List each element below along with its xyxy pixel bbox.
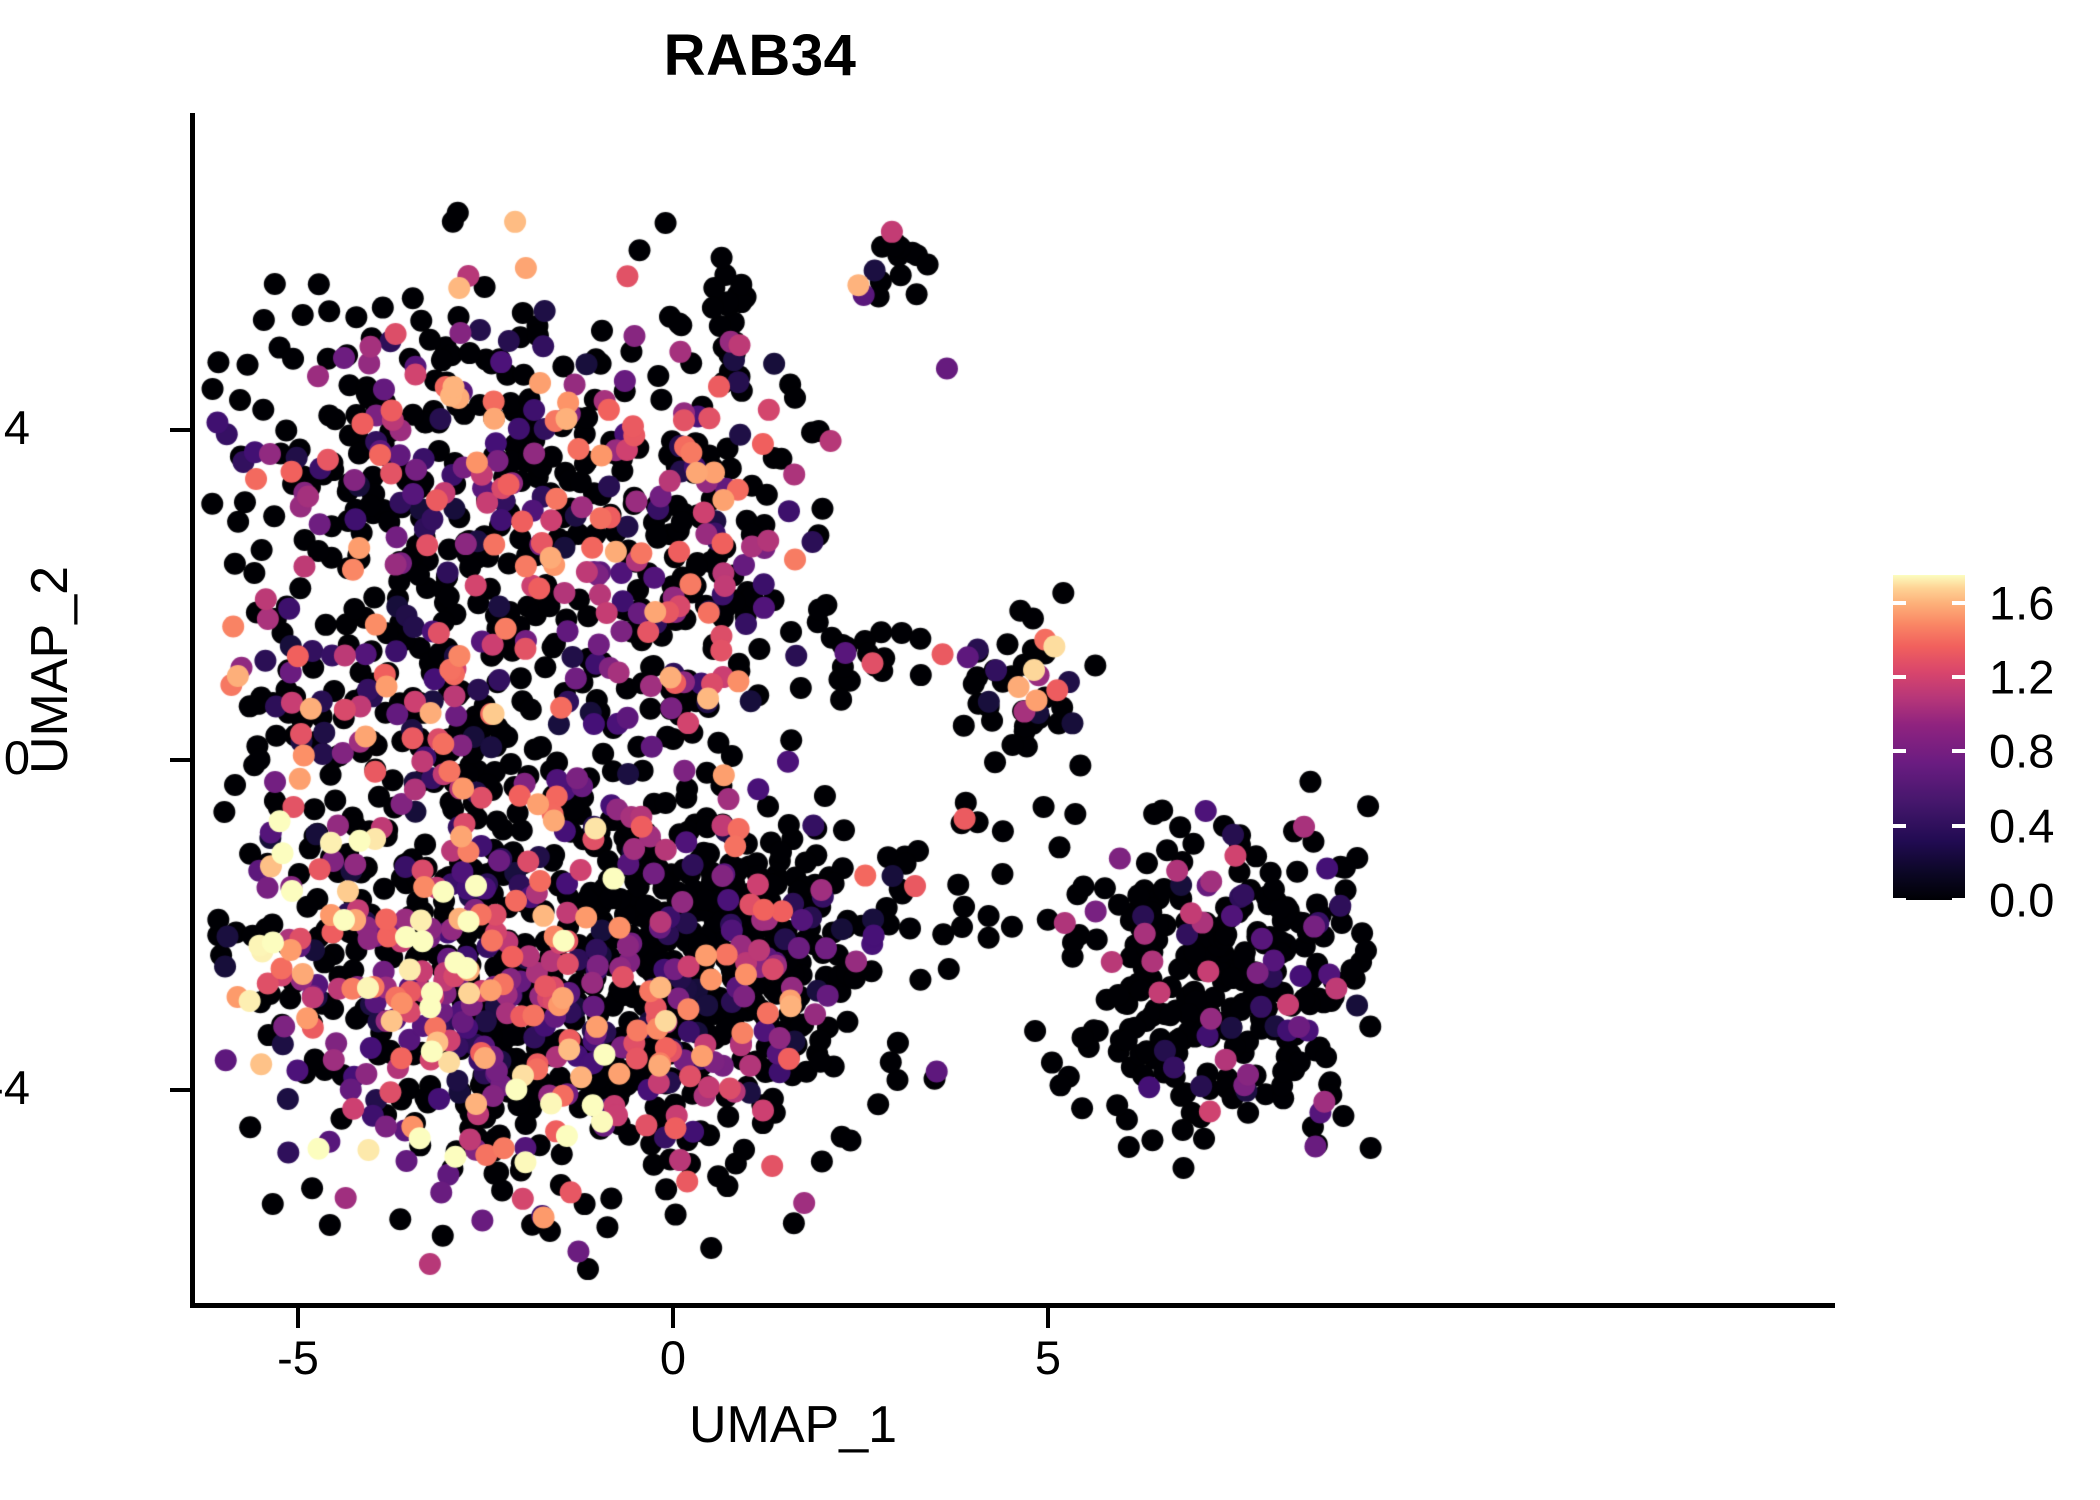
colorbar-tick-mark bbox=[1952, 601, 1965, 605]
colorbar-tick-mark bbox=[1893, 675, 1906, 679]
x-tick-label: 0 bbox=[593, 1330, 753, 1385]
plot-panel bbox=[193, 116, 1393, 1305]
x-tick-mark bbox=[671, 1307, 675, 1328]
y-tick-mark bbox=[170, 758, 191, 762]
x-tick-label: -5 bbox=[218, 1330, 378, 1385]
x-tick-label: 5 bbox=[968, 1330, 1128, 1385]
x-tick-mark bbox=[1046, 1307, 1050, 1328]
colorbar-tick-label: 0.4 bbox=[1989, 798, 2054, 853]
colorbar-tick-mark bbox=[1952, 749, 1965, 753]
y-tick-label: -4 bbox=[0, 1060, 30, 1115]
colorbar-tick-label: 0.0 bbox=[1989, 873, 2054, 928]
y-axis-title: UMAP_2 bbox=[20, 350, 80, 990]
y-tick-mark bbox=[170, 1088, 191, 1092]
colorbar-tick-mark bbox=[1893, 898, 1906, 902]
x-axis-title: UMAP_1 bbox=[193, 1395, 1393, 1455]
colorbar-tick-mark bbox=[1893, 824, 1906, 828]
x-axis-line bbox=[190, 1303, 1835, 1308]
page-title: RAB34 bbox=[0, 22, 1520, 89]
scatter-canvas bbox=[193, 116, 1393, 1305]
umap-feature-plot: RAB34 40-4 -505 UMAP_1 UMAP_2 1.61.20.80… bbox=[0, 0, 2100, 1500]
color-legend: 1.61.20.80.40.0 bbox=[1893, 575, 2093, 925]
colorbar-tick-label: 1.6 bbox=[1989, 575, 2054, 630]
colorbar-tick-label: 0.8 bbox=[1989, 724, 2054, 779]
y-tick-mark bbox=[170, 428, 191, 432]
colorbar-tick-mark bbox=[1893, 601, 1906, 605]
colorbar-tick-mark bbox=[1893, 749, 1906, 753]
colorbar-tick-mark bbox=[1952, 824, 1965, 828]
colorbar-tick-label: 1.2 bbox=[1989, 650, 2054, 705]
colorbar-gradient bbox=[1893, 575, 1965, 900]
colorbar-tick-mark bbox=[1952, 898, 1965, 902]
x-tick-mark bbox=[296, 1307, 300, 1328]
y-axis-line bbox=[190, 113, 195, 1308]
colorbar-tick-mark bbox=[1952, 675, 1965, 679]
